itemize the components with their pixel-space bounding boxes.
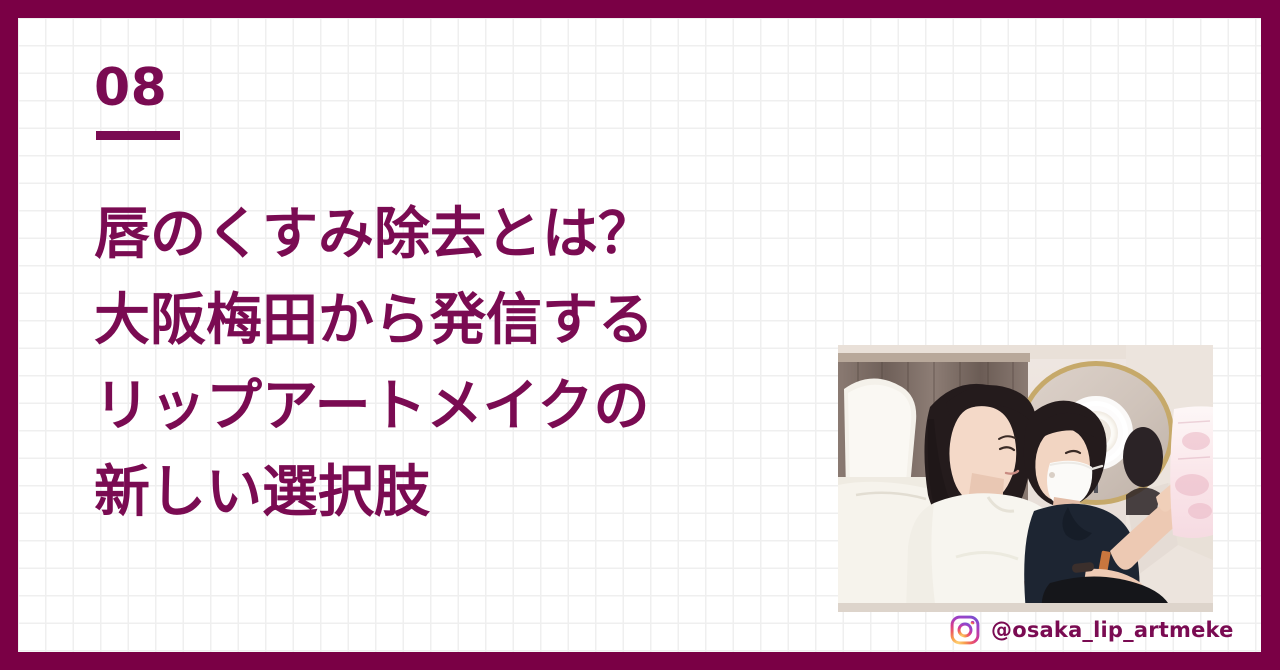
instagram-handle: @osaka_lip_artmeke (991, 618, 1234, 642)
clinic-consultation-photo (838, 345, 1213, 612)
photo-illustration (838, 345, 1213, 612)
headline-line-4: 新しい選択肢 (94, 450, 754, 536)
instagram-credit[interactable]: @osaka_lip_artmeke (950, 615, 1234, 645)
headline-line-2: 大阪梅田から発信する (94, 278, 754, 364)
section-number-underline (96, 131, 180, 140)
headline-line-3: リップアートメイクの (94, 364, 754, 450)
grid-panel: 08 唇のくすみ除去とは？ 大阪梅田から発信する リップアートメイクの 新しい選… (18, 18, 1261, 652)
section-number-block: 08 (94, 62, 180, 140)
instagram-icon (950, 615, 980, 645)
headline-line-1: 唇のくすみ除去とは？ (94, 192, 754, 278)
slide-root: 08 唇のくすみ除去とは？ 大阪梅田から発信する リップアートメイクの 新しい選… (0, 0, 1280, 670)
page-title: 唇のくすみ除去とは？ 大阪梅田から発信する リップアートメイクの 新しい選択肢 (94, 192, 754, 536)
section-number: 08 (94, 62, 180, 114)
